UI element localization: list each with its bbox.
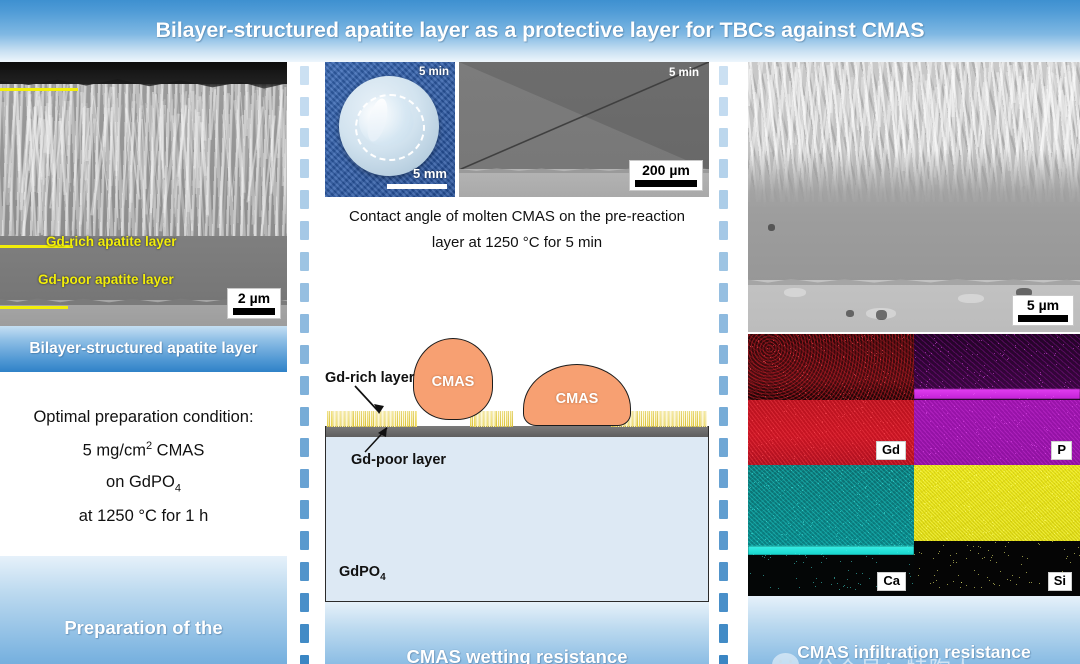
eds-speckle: [811, 356, 812, 357]
eds-speckle: [818, 406, 819, 407]
eds-speckle: [939, 587, 940, 588]
eds-speckle: [942, 527, 943, 528]
eds-speckle: [974, 475, 975, 476]
eds-speckle: [855, 544, 856, 545]
eds-speckle: [802, 486, 803, 487]
eds-speckle: [1044, 353, 1045, 354]
eds-speckle: [1042, 382, 1043, 383]
eds-speckle: [1031, 510, 1032, 511]
eds-speckle: [828, 480, 829, 481]
eds-speckle: [973, 482, 974, 483]
eds-speckle: [926, 512, 927, 513]
eds-speckle: [966, 432, 967, 433]
divider-dash: [300, 469, 309, 488]
eds-speckle: [1073, 490, 1074, 491]
eds-speckle: [866, 440, 867, 441]
eds-speckle: [925, 519, 926, 520]
eds-speckle: [794, 408, 795, 409]
eds-speckle: [1037, 504, 1038, 505]
eds-speckle: [782, 455, 783, 456]
poster-root: Bilayer-structured apatite layer as a pr…: [0, 0, 1080, 664]
eds-speckle: [992, 474, 993, 475]
eds-speckle: [909, 515, 910, 516]
eds-speckle: [833, 503, 834, 504]
eds-speckle: [910, 576, 911, 577]
eds-speckle: [918, 575, 919, 576]
eds-speckle: [849, 393, 850, 394]
eds-speckle: [831, 584, 832, 585]
eds-speckle: [929, 454, 930, 455]
eds-speckle: [799, 587, 800, 588]
eds-speckle: [836, 536, 837, 537]
eds-speckle: [762, 556, 763, 557]
eds-speckle: [770, 547, 771, 548]
eds-speckle: [961, 445, 962, 446]
divider-dash: [719, 562, 728, 581]
eds-speckle: [900, 348, 901, 349]
eds-speckle: [973, 467, 974, 468]
eds-speckle: [926, 538, 927, 539]
eds-speckle: [783, 389, 784, 390]
eds-speckle: [849, 337, 850, 338]
eds-speckle: [967, 344, 968, 345]
sem-needle-streak: [884, 74, 891, 139]
eds-speckle: [978, 434, 979, 435]
eds-speckle: [1016, 537, 1017, 538]
eds-speckle: [948, 518, 949, 519]
eds-speckle: [867, 395, 868, 396]
eds-speckle: [829, 526, 830, 527]
eds-speckle: [828, 514, 829, 515]
eds-speckle: [1011, 520, 1012, 521]
eds-speckle: [779, 387, 780, 388]
divider-dash: [300, 345, 309, 364]
eds-speckle: [773, 428, 774, 429]
eds-speckle: [987, 577, 988, 578]
eds-speckle: [812, 343, 813, 344]
divider-dash: [300, 283, 309, 302]
eds-speckle: [998, 489, 999, 490]
eds-speckle: [825, 474, 826, 475]
eds-speckle: [884, 433, 885, 434]
eds-speckle: [909, 482, 910, 483]
eds-speckle: [916, 449, 917, 450]
eds-speckle: [994, 381, 995, 382]
eds-speckle: [1025, 406, 1026, 407]
eds-speckle: [826, 413, 827, 414]
eds-speckle: [936, 342, 937, 343]
eds-speckle: [972, 531, 973, 532]
eds-speckle: [982, 558, 983, 559]
eds-speckle: [1035, 442, 1036, 443]
eds-speckle: [955, 453, 956, 454]
eds-speckle: [989, 531, 990, 532]
eds-speckle: [1062, 493, 1063, 494]
eds-speckle: [794, 379, 795, 380]
eds-speckle: [978, 445, 979, 446]
eds-speckle: [818, 394, 819, 395]
eds-speckle: [970, 550, 971, 551]
eds-speckle: [824, 350, 825, 351]
eds-speckle: [871, 352, 872, 353]
eds-speckle: [805, 392, 806, 393]
eds-speckle: [1008, 555, 1009, 556]
eds-speckle: [893, 425, 894, 426]
eds-map-ca: Ca: [748, 465, 914, 596]
eds-speckle: [1014, 420, 1015, 421]
eds-speckle: [923, 451, 924, 452]
eds-speckle: [891, 543, 892, 544]
eds-speckle: [944, 387, 945, 388]
eds-speckle: [906, 494, 907, 495]
eds-speckle: [1017, 369, 1018, 370]
eds-speckle: [926, 493, 927, 494]
eds-speckle: [960, 388, 961, 389]
eds-speckle: [1007, 579, 1008, 580]
eds-speckle: [856, 447, 857, 448]
eds-speckle: [812, 536, 813, 537]
eds-speckle: [1035, 531, 1036, 532]
eds-speckle: [975, 465, 976, 466]
eds-speckle: [1037, 392, 1038, 393]
eds-speckle: [1022, 449, 1023, 450]
eds-p-bright-line: [914, 389, 1080, 399]
divider-dash: [719, 593, 728, 612]
eds-speckle: [1024, 402, 1025, 403]
eds-speckle: [923, 520, 924, 521]
eds-speckle: [767, 527, 768, 528]
eds-speckle: [957, 427, 958, 428]
eds-speckle: [824, 339, 825, 340]
eds-speckle: [1030, 535, 1031, 536]
eds-speckle: [823, 556, 824, 557]
eds-speckle: [1031, 355, 1032, 356]
eds-speckle: [944, 434, 945, 435]
eds-speckle: [964, 528, 965, 529]
eds-speckle: [800, 348, 801, 349]
eds-speckle: [1057, 532, 1058, 533]
eds-map-si: Si: [914, 465, 1080, 596]
eds-speckle: [852, 343, 853, 344]
eds-speckle: [761, 444, 762, 445]
eds-speckle: [1033, 457, 1034, 458]
eds-speckle: [988, 387, 989, 388]
eds-speckle: [1013, 507, 1014, 508]
eds-speckle: [870, 445, 871, 446]
eds-speckle: [998, 343, 999, 344]
eds-speckle: [856, 539, 857, 540]
eds-speckle: [819, 495, 820, 496]
eds-speckle: [1017, 426, 1018, 427]
eds-speckle: [909, 519, 910, 520]
divider-dash: [300, 655, 309, 664]
eds-speckle: [1054, 355, 1055, 356]
eds-speckle: [969, 472, 970, 473]
eds-speckle: [764, 355, 765, 356]
eds-speckle: [1029, 582, 1030, 583]
eds-speckle: [800, 388, 801, 389]
eds-speckle: [931, 516, 932, 517]
eds-speckle: [770, 554, 771, 555]
eds-speckle: [791, 439, 792, 440]
eds-speckle: [839, 336, 840, 337]
eds-speckle: [1043, 438, 1044, 439]
eds-speckle: [897, 540, 898, 541]
eds-speckle: [909, 468, 910, 469]
eds-speckle: [750, 573, 751, 574]
eds-speckle: [882, 350, 883, 351]
eds-speckle: [1010, 580, 1011, 581]
eds-speckle: [855, 589, 856, 590]
eds-speckle: [992, 522, 993, 523]
eds-speckle: [1068, 387, 1069, 388]
eds-speckle: [1016, 499, 1017, 500]
eds-speckle: [938, 348, 939, 349]
eds-speckle: [795, 444, 796, 445]
eds-speckle: [797, 503, 798, 504]
eds-speckle: [1074, 553, 1075, 554]
eds-speckle: [910, 534, 911, 535]
eds-speckle: [848, 399, 849, 400]
eds-speckle: [988, 481, 989, 482]
eds-speckle: [975, 383, 976, 384]
sem-needle-streak: [791, 92, 793, 131]
eds-speckle: [950, 429, 951, 430]
eds-speckle: [878, 479, 879, 480]
eds-speckle: [862, 573, 863, 574]
eds-speckle: [884, 382, 885, 383]
eds-speckle: [838, 426, 839, 427]
eds-speckle: [969, 510, 970, 511]
eds-speckle: [1059, 428, 1060, 429]
eds-speckle: [976, 432, 977, 433]
eds-speckle: [778, 480, 779, 481]
eds-tag-ca: Ca: [877, 572, 906, 591]
eds-speckle: [930, 448, 931, 449]
eds-speckle: [876, 500, 877, 501]
eds-speckle: [1017, 407, 1018, 408]
eds-speckle: [1004, 552, 1005, 553]
eds-speckle: [969, 506, 970, 507]
eds-speckle: [946, 531, 947, 532]
eds-speckle: [810, 442, 811, 443]
eds-speckle: [1045, 520, 1046, 521]
eds-speckle: [767, 477, 768, 478]
eds-speckle: [989, 457, 990, 458]
eds-speckle: [969, 410, 970, 411]
eds-speckle: [996, 505, 997, 506]
eds-speckle: [994, 353, 995, 354]
sem-gd-rich-needles: [0, 84, 287, 236]
eds-speckle: [821, 554, 822, 555]
eds-speckle: [964, 505, 965, 506]
eds-speckle: [1015, 467, 1016, 468]
eds-speckle: [896, 479, 897, 480]
eds-speckle: [980, 388, 981, 389]
eds-speckle: [817, 417, 818, 418]
divider-dash: [719, 314, 728, 333]
eds-speckle: [758, 482, 759, 483]
eds-speckle: [782, 477, 783, 478]
eds-speckle: [893, 481, 894, 482]
eds-speckle: [752, 420, 753, 421]
divider-dash: [719, 66, 728, 85]
eds-speckle: [993, 373, 994, 374]
eds-speckle: [920, 385, 921, 386]
eds-speckle: [957, 521, 958, 522]
eds-speckle: [765, 451, 766, 452]
eds-speckle: [865, 402, 866, 403]
eds-speckle: [978, 546, 979, 547]
eds-speckle: [843, 523, 844, 524]
eds-speckle: [896, 507, 897, 508]
divider-dash: [300, 252, 309, 271]
eds-speckle: [830, 455, 831, 456]
eds-speckle: [852, 539, 853, 540]
eds-speckle: [966, 349, 967, 350]
eds-speckle: [958, 575, 959, 576]
eds-speckle: [846, 537, 847, 538]
eds-speckle: [846, 550, 847, 551]
eds-speckle: [849, 522, 850, 523]
eds-speckle: [1049, 402, 1050, 403]
eds-speckle: [974, 570, 975, 571]
eds-speckle: [1073, 521, 1074, 522]
sem-needle-streak: [210, 89, 217, 140]
eds-speckle: [769, 440, 770, 441]
eds-speckle: [989, 370, 990, 371]
eds-speckle: [926, 528, 927, 529]
eds-speckle: [778, 471, 779, 472]
divider-dash: [719, 128, 728, 147]
eds-speckle: [936, 580, 937, 581]
eds-speckle: [1035, 406, 1036, 407]
sem-label-gd-poor: Gd-poor apatite layer: [38, 272, 174, 287]
eds-speckle: [929, 364, 930, 365]
eds-speckle: [967, 369, 968, 370]
eds-speckle: [914, 554, 915, 555]
eds-speckle: [942, 381, 943, 382]
eds-speckle: [797, 437, 798, 438]
eds-speckle: [966, 533, 967, 534]
eds-speckle: [826, 431, 827, 432]
eds-speckle: [909, 573, 910, 574]
eds-speckle: [847, 587, 848, 588]
eds-speckle: [843, 357, 844, 358]
eds-speckle: [974, 393, 975, 394]
eds-speckle: [979, 375, 980, 376]
sem-guide-line-top: [0, 88, 78, 91]
eds-speckle: [1066, 558, 1067, 559]
center-column: 5 min 5 mm 5 min 200 µm Contact angle of…: [325, 62, 709, 664]
eds-speckle: [972, 354, 973, 355]
eds-speckle: [880, 399, 881, 400]
eds-speckle: [925, 352, 926, 353]
eds-speckle: [969, 454, 970, 455]
divider-dash: [300, 500, 309, 519]
eds-speckle: [1060, 334, 1061, 335]
eds-speckle: [974, 520, 975, 521]
eds-speckle: [830, 470, 831, 471]
eds-speckle: [961, 582, 962, 583]
eds-speckle: [1006, 335, 1007, 336]
eds-speckle: [764, 557, 765, 558]
divider-dash: [300, 159, 309, 178]
eds-speckle: [835, 527, 836, 528]
eds-speckle: [856, 421, 857, 422]
eds-speckle: [788, 523, 789, 524]
eds-speckle: [822, 553, 823, 554]
condition-line-1: Optimal preparation condition:: [33, 408, 253, 427]
eds-speckle: [770, 587, 771, 588]
eds-speckle: [770, 357, 771, 358]
eds-tag-p: P: [1051, 441, 1072, 460]
eds-speckle: [764, 486, 765, 487]
eds-speckle: [934, 575, 935, 576]
eds-speckle: [787, 396, 788, 397]
eds-speckle: [1006, 458, 1007, 459]
divider-dash: [300, 376, 309, 395]
eds-speckle: [947, 538, 948, 539]
eds-speckle: [780, 495, 781, 496]
eds-speckle: [1025, 539, 1026, 540]
eds-speckle: [1026, 572, 1027, 573]
eds-speckle: [912, 583, 913, 584]
eds-speckle: [963, 421, 964, 422]
eds-speckle: [879, 528, 880, 529]
eds-speckle: [985, 523, 986, 524]
eds-speckle: [792, 487, 793, 488]
eds-speckle: [936, 485, 937, 486]
eds-speckle: [818, 390, 819, 391]
eds-speckle: [766, 468, 767, 469]
eds-speckle: [873, 440, 874, 441]
eds-speckle: [752, 455, 753, 456]
eds-speckle: [826, 478, 827, 479]
eds-speckle: [778, 350, 779, 351]
eds-speckle: [894, 402, 895, 403]
eds-speckle: [839, 589, 840, 590]
eds-speckle: [819, 433, 820, 434]
eds-speckle: [874, 516, 875, 517]
eds-speckle: [856, 399, 857, 400]
eds-speckle: [843, 397, 844, 398]
eds-speckle: [774, 351, 775, 352]
eds-speckle: [923, 389, 924, 390]
eds-speckle: [929, 355, 930, 356]
eds-speckle: [968, 494, 969, 495]
center-image-row: 5 min 5 mm 5 min 200 µm: [325, 62, 709, 197]
eds-speckle: [870, 470, 871, 471]
eds-speckle: [1004, 471, 1005, 472]
banner-bilayer-apatite-layer: Bilayer-structured apatite layer: [0, 326, 287, 372]
eds-speckle: [854, 501, 855, 502]
eds-speckle: [1039, 544, 1040, 545]
schematic-label-substrate: GdPO4: [339, 564, 386, 583]
eds-speckle: [1043, 487, 1044, 488]
eds-speckle: [837, 583, 838, 584]
eds-speckle: [862, 525, 863, 526]
eds-speckle: [1008, 491, 1009, 492]
eds-speckle: [852, 487, 853, 488]
eds-speckle: [1036, 446, 1037, 447]
divider-dash: [300, 190, 309, 209]
scalebar-2um: 2 µm: [227, 288, 281, 319]
scalebar-rule: [233, 308, 275, 315]
eds-speckle: [894, 545, 895, 546]
eds-speckle: [1006, 502, 1007, 503]
eds-speckle: [918, 469, 919, 470]
